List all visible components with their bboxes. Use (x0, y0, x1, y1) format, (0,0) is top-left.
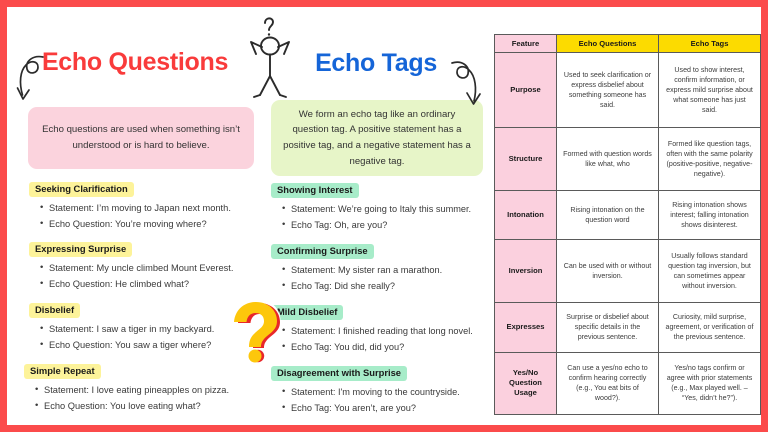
section-showing-interest: Showing Interest Statement: We’re going … (271, 180, 487, 234)
intro-box-echo-questions: Echo questions are used when something i… (28, 107, 254, 169)
row-header-purpose: Purpose (495, 53, 557, 128)
example-list: Statement: My uncle climbed Mount Everes… (29, 261, 261, 291)
table-header-row: Feature Echo Questions Echo Tags (495, 35, 761, 53)
table-row: Expresses Surprise or disbelief about sp… (495, 302, 761, 352)
section-seeking-clarification: Seeking Clarification Statement: I’m mov… (29, 179, 261, 233)
list-item: Echo Tag: You aren’t, are you? (291, 401, 487, 415)
list-item: Echo Question: He climbed what? (49, 277, 261, 291)
section-label: Expressing Surprise (29, 242, 132, 258)
cell-echo-questions: Surprise or disbelief about specific det… (557, 302, 659, 352)
example-list: Statement: We’re going to Italy this sum… (271, 202, 487, 232)
example-list: Statement: I'm moving to the countryside… (271, 385, 487, 415)
section-label: Showing Interest (271, 183, 359, 199)
table-row: Structure Formed with question words lik… (495, 128, 761, 190)
intro-text-echo-questions: Echo questions are used when something i… (39, 122, 243, 153)
list-item: Statement: My uncle climbed Mount Everes… (49, 261, 261, 275)
list-item: Statement: My sister ran a marathon. (291, 263, 487, 277)
list-item: Echo Question: You saw a tiger where? (49, 338, 261, 352)
list-item: Statement: I love eating pineapples on p… (44, 383, 262, 397)
list-item: Statement: We’re going to Italy this sum… (291, 202, 487, 216)
list-item: Statement: I’m moving to Japan next mont… (49, 201, 261, 215)
cell-echo-tags: Curiosity, mild surprise, agreement, or … (659, 302, 761, 352)
list-item: Statement: I'm moving to the countryside… (291, 385, 487, 399)
cell-echo-questions: Can use a yes/no echo to confirm hearing… (557, 352, 659, 415)
page-title-echo-tags: Echo Tags (269, 51, 483, 76)
cell-echo-tags: Used to show interest, confirm informati… (659, 53, 761, 128)
comparison-table-container: Feature Echo Questions Echo Tags Purpose… (494, 34, 761, 415)
cell-echo-tags: Formed like question tags, often with th… (659, 128, 761, 190)
row-header-expresses: Expresses (495, 302, 557, 352)
example-list: Statement: I saw a tiger in my backyard.… (29, 322, 261, 352)
section-disbelief: Disbelief Statement: I saw a tiger in my… (29, 300, 261, 354)
list-item: Echo Tag: You did, did you? (291, 340, 487, 354)
list-item: Echo Tag: Did she really? (291, 279, 487, 293)
example-list: Statement: My sister ran a marathon. Ech… (271, 263, 487, 293)
row-header-inversion: Inversion (495, 240, 557, 302)
list-item: Echo Question: You love eating what? (44, 399, 262, 413)
column-header-echo-tags: Echo Tags (659, 35, 761, 53)
table-row: Yes/No Question Usage Can use a yes/no e… (495, 352, 761, 415)
intro-text-echo-tags: We form an echo tag like an ordinary que… (282, 107, 472, 169)
cell-echo-questions: Rising intonation on the question word (557, 190, 659, 240)
cell-echo-tags: Rising intonation shows interest; fallin… (659, 190, 761, 240)
table-row: Purpose Used to seek clarification or ex… (495, 53, 761, 128)
section-label: Confirming Surprise (271, 244, 374, 260)
cell-echo-tags: Usually follows standard question tag in… (659, 240, 761, 302)
column-header-echo-questions: Echo Questions (557, 35, 659, 53)
list-item: Echo Tag: Oh, are you? (291, 218, 487, 232)
page-title-echo-questions: Echo Questions (21, 50, 249, 75)
list-item: Statement: I finished reading that long … (291, 324, 487, 338)
section-confirming-surprise: Confirming Surprise Statement: My sister… (271, 241, 487, 295)
table-row: Intonation Rising intonation on the ques… (495, 190, 761, 240)
list-item: Echo Question: You’re moving where? (49, 217, 261, 231)
example-list: Statement: I love eating pineapples on p… (24, 383, 262, 413)
row-header-structure: Structure (495, 128, 557, 190)
cell-echo-tags: Yes/no tags confirm or agree with prior … (659, 352, 761, 415)
cell-echo-questions: Used to seek clarification or express di… (557, 53, 659, 128)
example-list: Statement: I’m moving to Japan next mont… (29, 201, 261, 231)
list-item: Statement: I saw a tiger in my backyard. (49, 322, 261, 336)
section-expressing-surprise: Expressing Surprise Statement: My uncle … (29, 239, 261, 293)
section-mild-disbelief: Mild Disbelief Statement: I finished rea… (271, 302, 487, 356)
section-label: Disagreement with Surprise (271, 366, 407, 382)
section-label: Simple Repeat (24, 364, 101, 380)
column-header-feature: Feature (495, 35, 557, 53)
cell-echo-questions: Can be used with or without inversion. (557, 240, 659, 302)
section-label: Disbelief (29, 303, 80, 319)
section-label: Mild Disbelief (271, 305, 343, 321)
intro-box-echo-tags: We form an echo tag like an ordinary que… (271, 100, 483, 176)
section-disagreement-with-surprise: Disagreement with Surprise Statement: I'… (271, 363, 487, 417)
cell-echo-questions: Formed with question words like what, wh… (557, 128, 659, 190)
table-row: Inversion Can be used with or without in… (495, 240, 761, 302)
row-header-intonation: Intonation (495, 190, 557, 240)
section-label: Seeking Clarification (29, 182, 134, 198)
section-simple-repeat: Simple Repeat Statement: I love eating p… (24, 361, 262, 415)
example-list: Statement: I finished reading that long … (271, 324, 487, 354)
row-header-yes-no-question-usage: Yes/No Question Usage (495, 352, 557, 415)
poster-canvas: Echo Questions Echo Tags Echo questions … (0, 0, 768, 432)
comparison-table: Feature Echo Questions Echo Tags Purpose… (494, 34, 761, 415)
